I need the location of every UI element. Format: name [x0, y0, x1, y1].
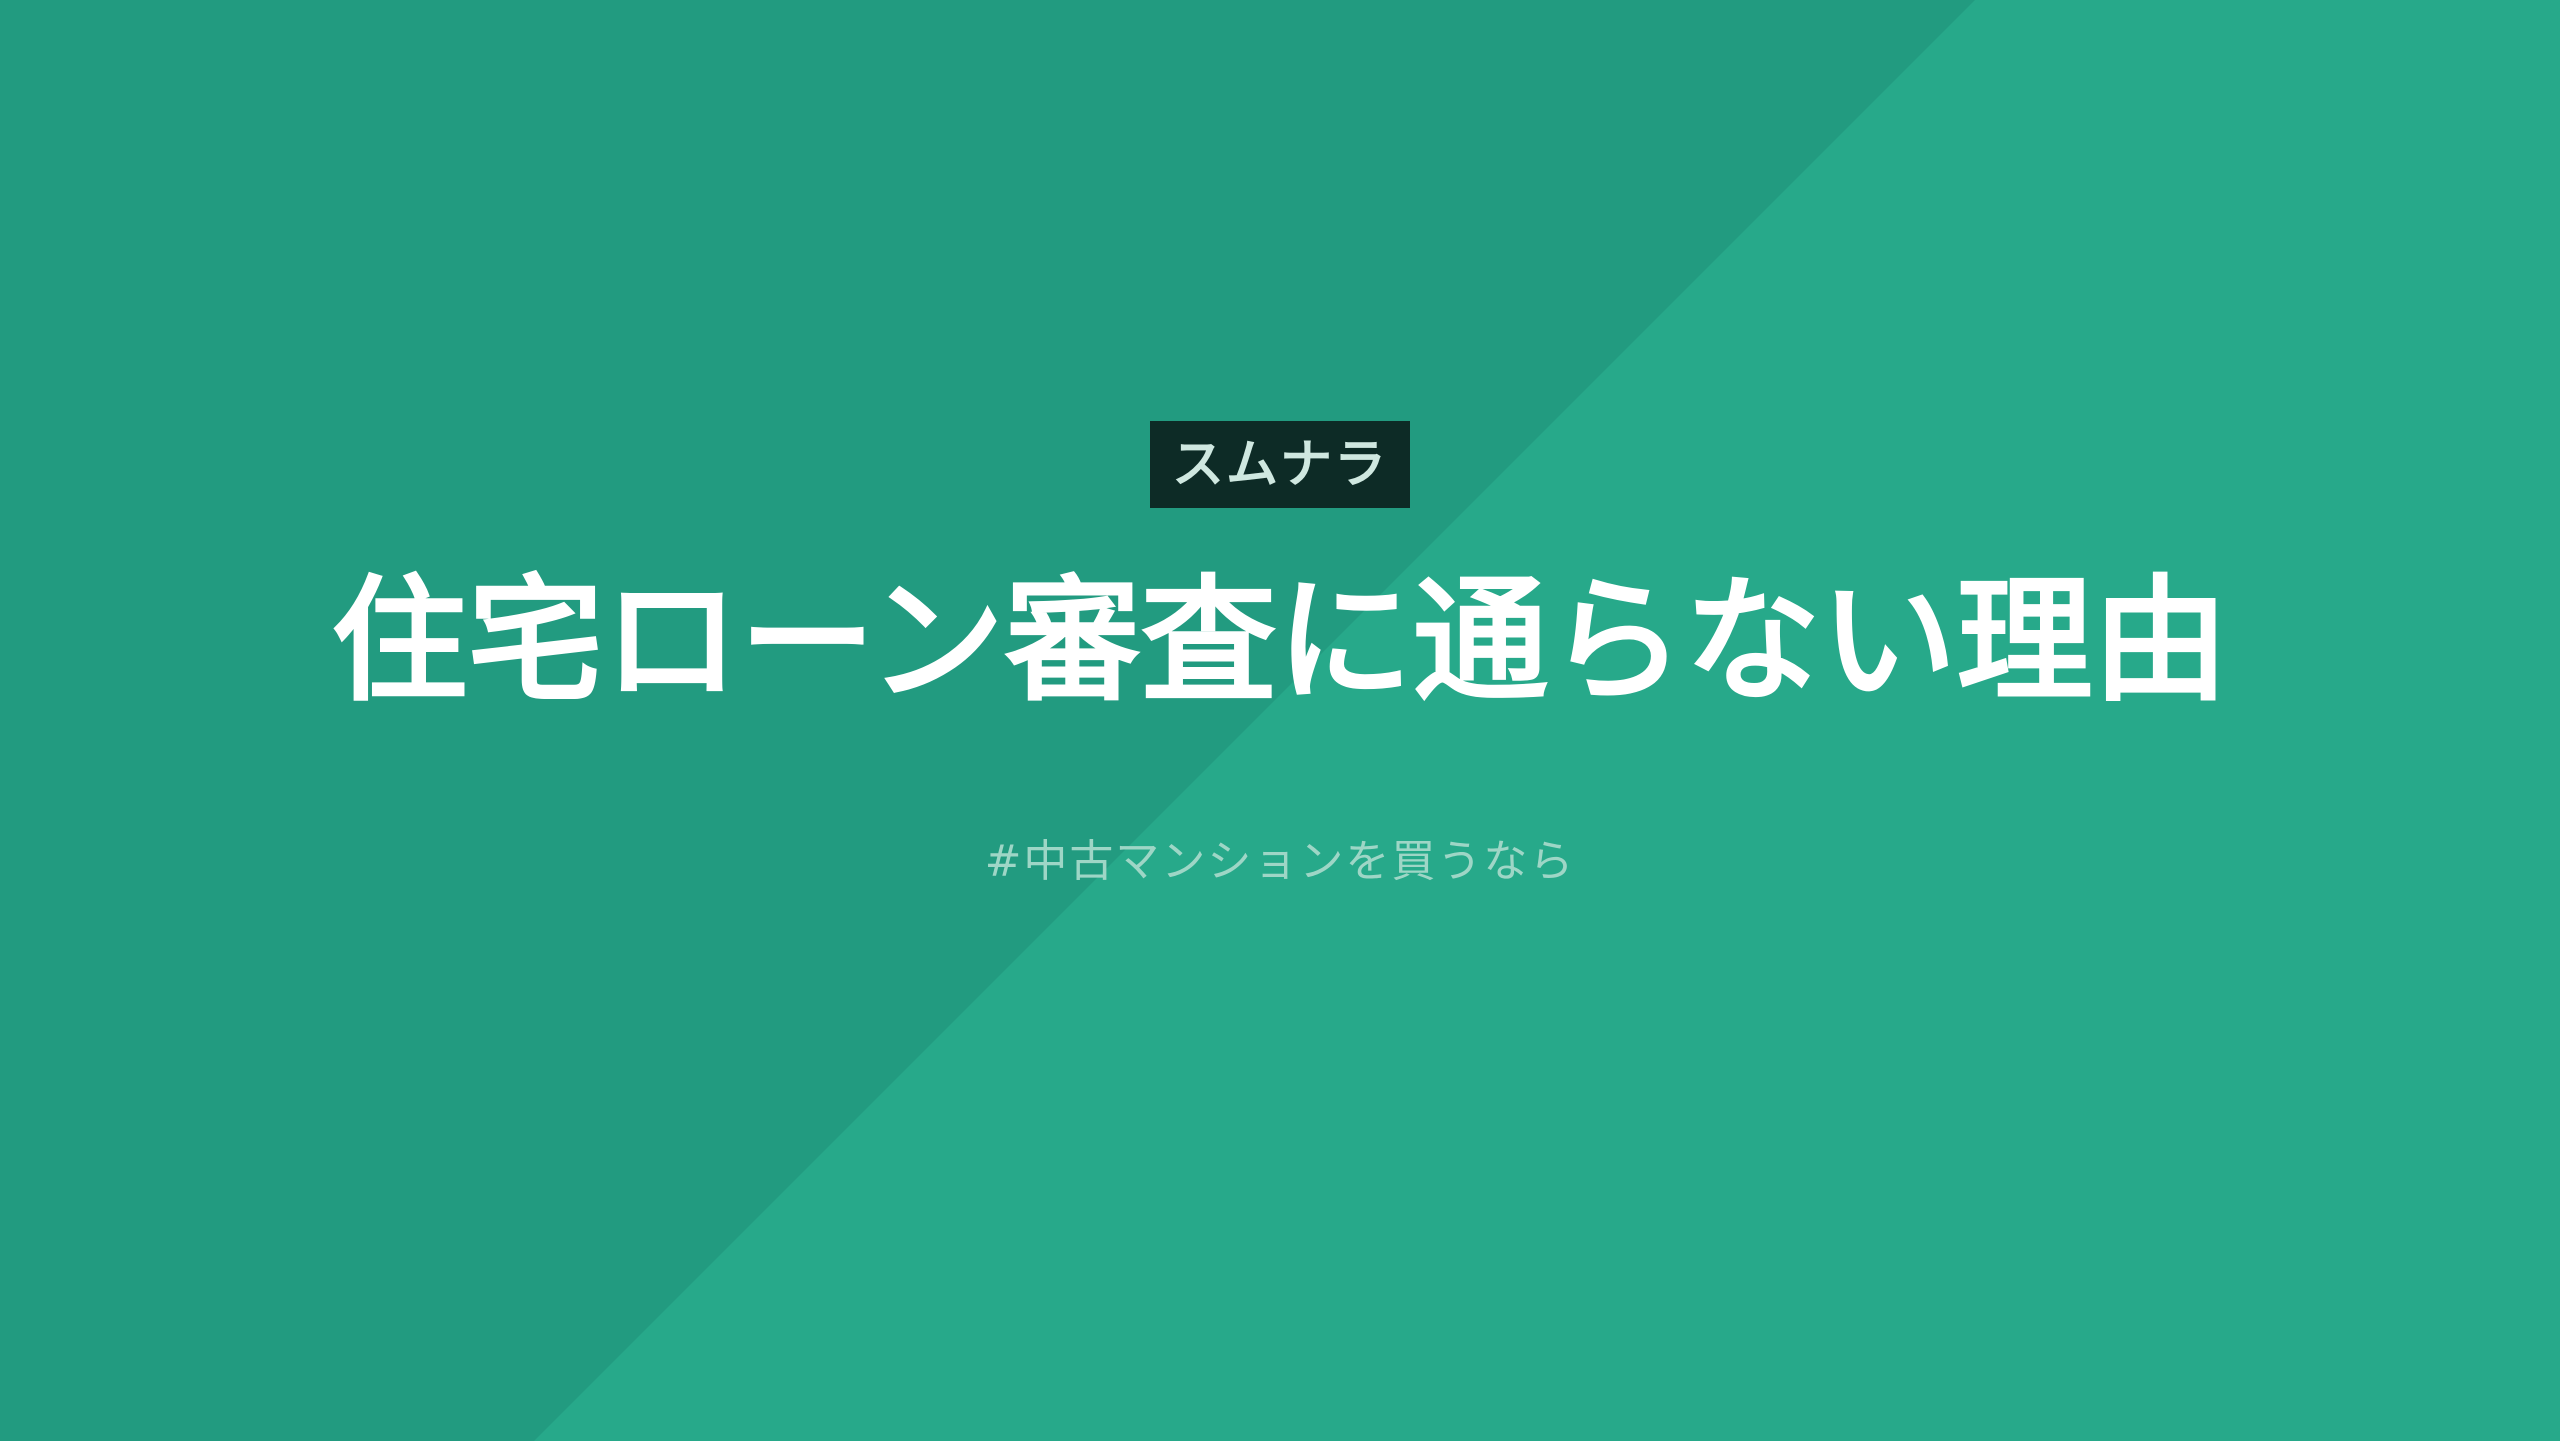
page-title: 住宅ローン審査に通らない理由	[331, 562, 2228, 722]
ogp-card: スムナラ 住宅ローン審査に通らない理由 #中古マンションを買うなら	[0, 0, 2560, 1441]
content-stack: スムナラ 住宅ローン審査に通らない理由 #中古マンションを買うなら	[0, 0, 2560, 1441]
site-logo-badge: スムナラ	[1150, 421, 1410, 508]
hashtag-subtitle: #中古マンションを買うなら	[985, 836, 1576, 889]
